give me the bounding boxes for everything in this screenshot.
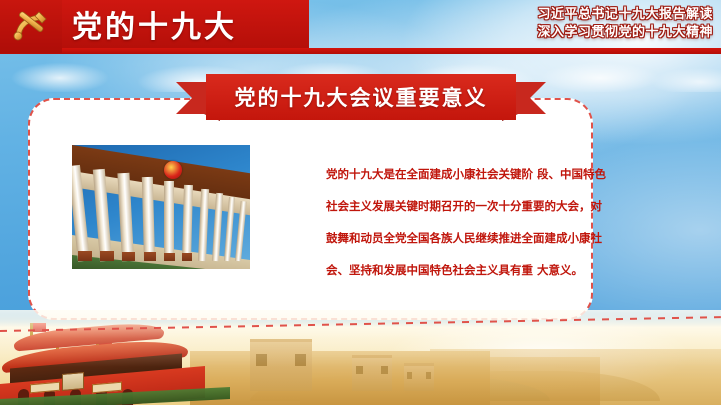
header-red-bar [0,48,721,54]
tiananmen-gate-illustration [0,325,215,405]
header-subtitle-line-1: 习近平总书记十九大报告解读 [463,6,713,24]
photo-column [142,177,155,261]
card-body-text: 党的十九大是在全面建成小康社会关键阶 段、中国特色 社会主义发展关键时期召开的一… [326,158,588,286]
great-wall-tower-second [352,355,392,391]
photo-column-base [164,253,175,261]
body-line-1: 党的十九大是在全面建成小康社会关键阶 段、中国特色 [326,158,588,190]
great-wall-near [190,351,490,405]
photo-column-base [78,251,92,261]
gate-portrait [62,372,84,391]
slide-root: 党的十九大 习近平总书记十九大报告解读 深入学习贯彻党的十九大精神 [0,0,721,405]
photo-column-base [144,252,156,261]
photo-column-base [100,251,114,261]
photo-column-base [182,253,192,261]
ribbon-title: 党的十九大会议重要意义 [235,82,488,112]
great-wall-tower-third [404,363,434,391]
header-subtitle-group: 习近平总书记十九大报告解读 深入学习贯彻党的十九大精神 [463,6,713,42]
body-line-3: 鼓舞和动员全党全国各族人民继续推进全面建成小康社 [326,222,588,254]
national-emblem-icon [164,161,182,179]
body-line-4: 会、坚持和发展中国特色社会主义具有重 大意义。 [326,254,588,286]
photo-column [164,181,174,261]
great-wall-tower-main [250,339,312,391]
body-line-2: 社会主义发展关键时期召开的一次十分重要的大会，对 [326,190,588,222]
footer-scene [0,310,721,405]
photo-column-base [122,252,135,261]
hammer-and-sickle-icon [9,7,53,47]
content-card: 党的十九大是在全面建成小康社会关键阶 段、中国特色 社会主义发展关键时期召开的一… [28,98,593,320]
party-emblem-block [0,0,62,53]
page-title: 党的十九大 [72,2,312,46]
section-ribbon-banner: 党的十九大会议重要意义 [176,74,546,120]
header-subtitle-line-2: 深入学习贯彻党的十九大精神 [463,24,713,42]
ribbon-body: 党的十九大会议重要意义 [206,74,516,120]
great-hall-of-the-people-photo [72,145,250,269]
